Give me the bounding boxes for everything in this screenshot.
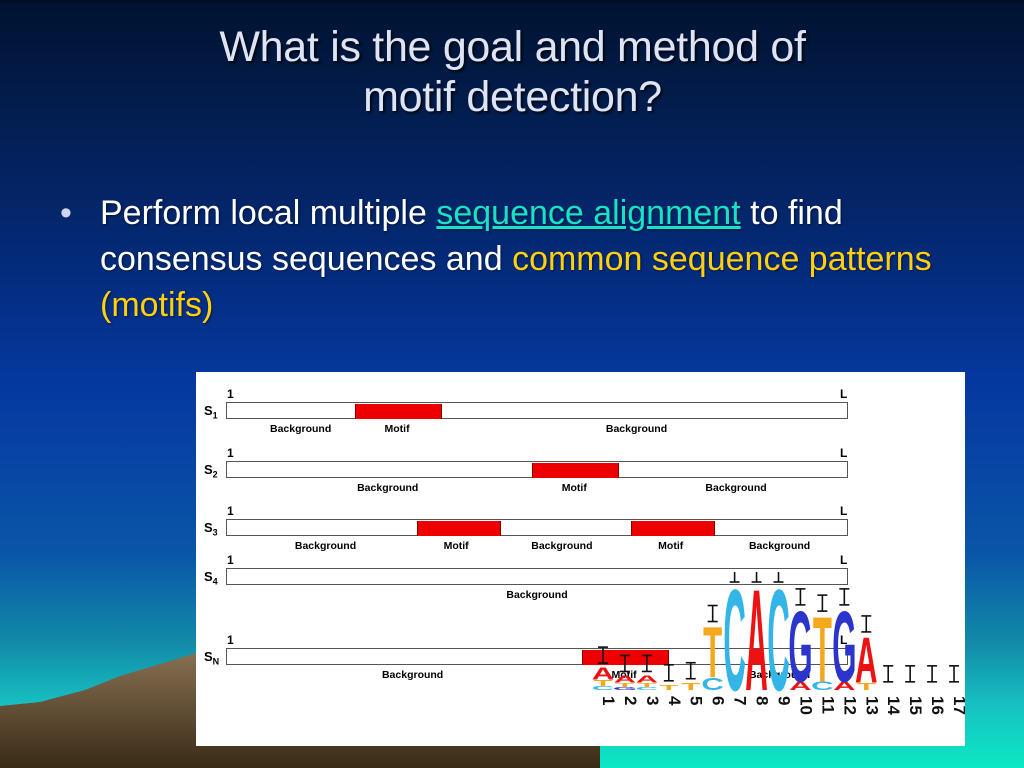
logo-error-bar bbox=[949, 666, 959, 682]
sequence-bar bbox=[226, 402, 848, 419]
motif-caption: Motif bbox=[444, 540, 469, 552]
sequence-start-tick: 1 bbox=[227, 446, 234, 460]
logo-error-bar bbox=[620, 655, 630, 671]
logo-x-tick-label: 16 bbox=[928, 696, 947, 715]
bullet-marker-icon: • bbox=[52, 190, 100, 236]
logo-letter-T: T bbox=[813, 599, 832, 702]
logo-letter-A: A bbox=[855, 624, 877, 697]
sequence-label-name: S bbox=[204, 403, 213, 418]
title-line-2: motif detection? bbox=[60, 72, 965, 122]
logo-error-bar bbox=[905, 666, 915, 682]
background-caption: Background bbox=[531, 540, 592, 552]
motif-block bbox=[631, 521, 715, 536]
motif-block bbox=[417, 521, 501, 536]
logo-error-bar bbox=[664, 665, 674, 681]
bullet-text: Perform local multiple sequence alignmen… bbox=[100, 190, 982, 328]
sequence-bar bbox=[226, 519, 848, 536]
logo-error-bar bbox=[927, 666, 937, 682]
sequence-label: S1 bbox=[204, 403, 218, 421]
sequence-label-name: S bbox=[204, 649, 213, 664]
page-title: What is the goal and method of motif det… bbox=[60, 22, 965, 122]
logo-x-tick-label: 2 bbox=[621, 696, 640, 705]
logo-letter-A: A bbox=[592, 664, 614, 683]
bullet-item: • Perform local multiple sequence alignm… bbox=[52, 190, 982, 328]
logo-x-tick-label: 15 bbox=[906, 696, 925, 715]
motif-caption: Motif bbox=[385, 423, 410, 435]
logo-error-bar bbox=[598, 647, 608, 663]
sequence-end-tick: L bbox=[840, 387, 847, 401]
motif-caption: Motif bbox=[658, 540, 683, 552]
sequence-label: SN bbox=[204, 649, 219, 667]
sequence-end-tick: L bbox=[840, 553, 847, 567]
background-caption: Background bbox=[357, 482, 418, 494]
title-line-1: What is the goal and method of bbox=[60, 22, 965, 72]
background-caption: Background bbox=[749, 540, 810, 552]
logo-letter-T: T bbox=[659, 684, 678, 692]
sequence-label-index: 1 bbox=[213, 411, 218, 421]
sequence-alignment-link[interactable]: sequence alignment bbox=[436, 194, 740, 232]
body-content: • Perform local multiple sequence alignm… bbox=[52, 190, 982, 328]
logo-error-bar bbox=[883, 666, 893, 682]
sequence-label: S4 bbox=[204, 569, 218, 587]
sequence-label-name: S bbox=[204, 569, 213, 584]
logo-letter-T: T bbox=[703, 613, 722, 694]
motif-block bbox=[532, 463, 619, 478]
logo-letter-G: G bbox=[788, 590, 812, 704]
sequence-label: S3 bbox=[204, 520, 218, 538]
background-caption: Background bbox=[506, 589, 567, 601]
background-caption: Background bbox=[382, 669, 443, 681]
background-caption: Background bbox=[295, 540, 356, 552]
logo-x-tick-label: 12 bbox=[840, 696, 859, 715]
logo-letter-G: G bbox=[832, 590, 856, 704]
logo-x-tick-label: 1 bbox=[599, 696, 618, 705]
sequence-start-tick: 1 bbox=[227, 504, 234, 518]
logo-error-bar bbox=[642, 655, 652, 671]
background-caption: Background bbox=[270, 423, 331, 435]
sequence-label-index: 4 bbox=[213, 577, 218, 587]
logo-x-tick-label: 14 bbox=[884, 696, 903, 715]
logo-letter-A: A bbox=[614, 674, 637, 685]
logo-x-tick-label: 17 bbox=[950, 696, 965, 715]
sequence-label: S2 bbox=[204, 462, 218, 480]
sequence-label-index: 2 bbox=[213, 470, 218, 480]
background-caption: Background bbox=[705, 482, 766, 494]
logo-x-tick-label: 13 bbox=[862, 696, 881, 715]
sequence-label-name: S bbox=[204, 462, 213, 477]
motif-block bbox=[355, 404, 442, 419]
logo-error-bar bbox=[686, 663, 696, 679]
sequence-start-tick: 1 bbox=[227, 387, 234, 401]
bullet-text-part-1: Perform local multiple bbox=[100, 194, 436, 232]
sequence-end-tick: L bbox=[840, 504, 847, 518]
sequence-start-tick: 1 bbox=[227, 633, 234, 647]
logo-x-tick-label: 5 bbox=[687, 696, 706, 705]
sequence-logo-chart: CTA1GTA2CTA3T4T5CT6C7A8C9AG10CT11AG12TA1… bbox=[592, 572, 965, 746]
logo-x-tick-label: 3 bbox=[643, 696, 662, 705]
motif-caption: Motif bbox=[562, 482, 587, 494]
top-edge-strip bbox=[0, 0, 1024, 3]
sequence-label-name: S bbox=[204, 520, 213, 535]
sequence-label-index: N bbox=[213, 657, 220, 667]
sequence-label-index: 3 bbox=[213, 528, 218, 538]
logo-letter-T: T bbox=[681, 681, 700, 692]
sequence-bar bbox=[226, 461, 848, 478]
figure-panel: S11LBackgroundMotifBackgroundS21LBackgro… bbox=[196, 372, 965, 746]
logo-x-tick-label: 4 bbox=[665, 696, 684, 706]
sequence-end-tick: L bbox=[840, 446, 847, 460]
background-caption: Background bbox=[606, 423, 667, 435]
sequence-start-tick: 1 bbox=[227, 553, 234, 567]
logo-letter-A: A bbox=[636, 674, 659, 685]
